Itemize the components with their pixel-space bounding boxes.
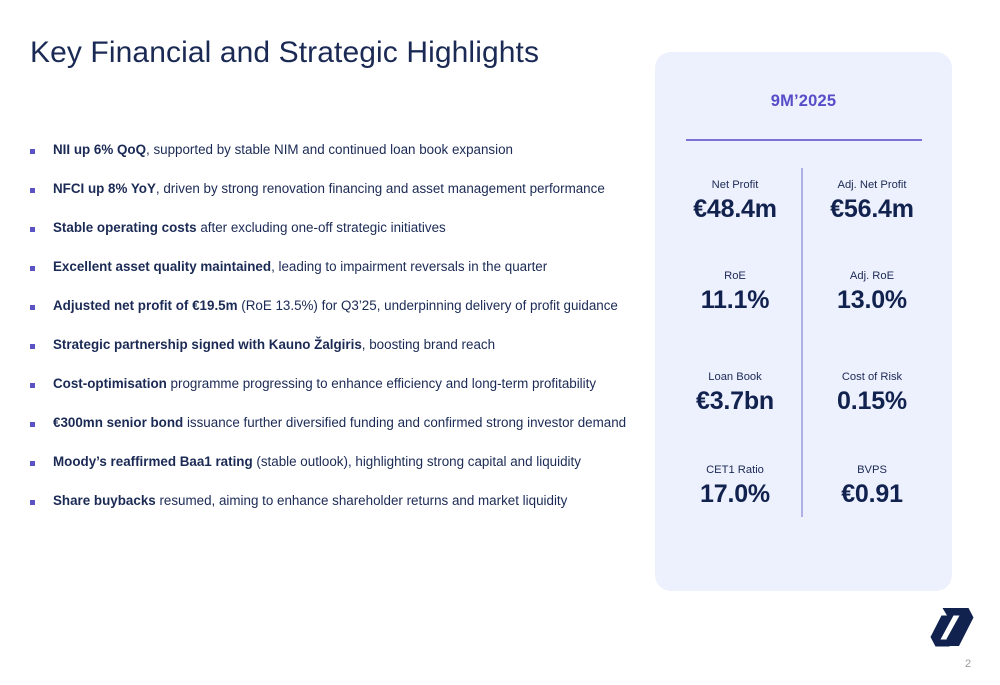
list-item: Share buybacks resumed, aiming to enhanc… [29, 492, 649, 531]
highlights-bullet-list: NII up 6% QoQ, supported by stable NIM a… [29, 141, 649, 531]
list-item-bold: Moody’s reaffirmed Baa1 rating [53, 454, 253, 469]
company-logo-icon [928, 606, 976, 652]
square-bullet-icon [30, 188, 35, 193]
list-item: Adjusted net profit of €19.5m (RoE 13.5%… [29, 297, 649, 336]
square-bullet-icon [30, 422, 35, 427]
list-item-bold: Cost-optimisation [53, 376, 167, 391]
list-item-bold: NFCI up 8% YoY [53, 181, 156, 196]
metric-label: BVPS [802, 463, 942, 477]
list-item-text: Stable operating costs after excluding o… [53, 219, 446, 236]
list-item-rest: , leading to impairment reversals in the… [271, 259, 547, 274]
metric-bvps: BVPS €0.91 [802, 463, 942, 508]
list-item-text: Adjusted net profit of €19.5m (RoE 13.5%… [53, 297, 618, 314]
list-item-rest: (RoE 13.5%) for Q3’25, underpinning deli… [238, 298, 618, 313]
square-bullet-icon [30, 461, 35, 466]
square-bullet-icon [30, 500, 35, 505]
list-item-bold: Strategic partnership signed with Kauno … [53, 337, 362, 352]
key-metrics-panel: 9M’2025 Net Profit €48.4m Adj. Net Profi… [655, 52, 952, 591]
list-item: Stable operating costs after excluding o… [29, 219, 649, 258]
list-item-text: Strategic partnership signed with Kauno … [53, 336, 495, 353]
metrics-panel-title: 9M’2025 [655, 92, 952, 111]
metric-roe: RoE 11.1% [665, 269, 805, 314]
metric-label: RoE [665, 269, 805, 283]
list-item-bold: Adjusted net profit of €19.5m [53, 298, 238, 313]
square-bullet-icon [30, 149, 35, 154]
metric-label: Loan Book [665, 370, 805, 384]
list-item-rest: resumed, aiming to enhance shareholder r… [156, 493, 568, 508]
list-item-rest: , driven by strong renovation financing … [156, 181, 605, 196]
page-number: 2 [950, 658, 986, 670]
metric-value: €56.4m [802, 195, 942, 223]
metric-value: 11.1% [665, 286, 805, 314]
square-bullet-icon [30, 344, 35, 349]
list-item-text: Moody’s reaffirmed Baa1 rating (stable o… [53, 453, 581, 470]
page-title: Key Financial and Strategic Highlights [30, 36, 539, 70]
square-bullet-icon [30, 266, 35, 271]
list-item-rest: (stable outlook), highlighting strong ca… [253, 454, 581, 469]
list-item: Excellent asset quality maintained, lead… [29, 258, 649, 297]
metric-value: 0.15% [802, 387, 942, 415]
list-item-text: NII up 6% QoQ, supported by stable NIM a… [53, 141, 513, 158]
metric-adj-roe: Adj. RoE 13.0% [802, 269, 942, 314]
metric-cost-of-risk: Cost of Risk 0.15% [802, 370, 942, 415]
square-bullet-icon [30, 305, 35, 310]
list-item-text: NFCI up 8% YoY, driven by strong renovat… [53, 180, 605, 197]
square-bullet-icon [30, 227, 35, 232]
metric-value: 13.0% [802, 286, 942, 314]
metric-label: Adj. RoE [802, 269, 942, 283]
list-item-text: Cost-optimisation programme progressing … [53, 375, 596, 392]
square-bullet-icon [30, 383, 35, 388]
list-item-bold: Stable operating costs [53, 220, 197, 235]
list-item-rest: programme progressing to enhance efficie… [167, 376, 596, 391]
list-item: Strategic partnership signed with Kauno … [29, 336, 649, 375]
list-item-rest: after excluding one-off strategic initia… [197, 220, 446, 235]
metric-adj-net-profit: Adj. Net Profit €56.4m [802, 178, 942, 223]
list-item: Moody’s reaffirmed Baa1 rating (stable o… [29, 453, 649, 492]
metric-value: €0.91 [802, 480, 942, 508]
list-item: Cost-optimisation programme progressing … [29, 375, 649, 414]
metric-cet1-ratio: CET1 Ratio 17.0% [665, 463, 805, 508]
metric-value: €48.4m [665, 195, 805, 223]
list-item-rest: , boosting brand reach [362, 337, 495, 352]
metric-net-profit: Net Profit €48.4m [665, 178, 805, 223]
list-item: NFCI up 8% YoY, driven by strong renovat… [29, 180, 649, 219]
list-item-bold: Share buybacks [53, 493, 156, 508]
list-item-text: €300mn senior bond issuance further dive… [53, 414, 626, 431]
metric-label: CET1 Ratio [665, 463, 805, 477]
metric-label: Adj. Net Profit [802, 178, 942, 192]
metric-value: 17.0% [665, 480, 805, 508]
list-item-bold: NII up 6% QoQ [53, 142, 146, 157]
list-item: NII up 6% QoQ, supported by stable NIM a… [29, 141, 649, 180]
list-item: €300mn senior bond issuance further dive… [29, 414, 649, 453]
metric-label: Net Profit [665, 178, 805, 192]
metric-value: €3.7bn [665, 387, 805, 415]
list-item-bold: Excellent asset quality maintained [53, 259, 271, 274]
list-item-rest: , supported by stable NIM and continued … [146, 142, 513, 157]
metric-loan-book: Loan Book €3.7bn [665, 370, 805, 415]
list-item-text: Share buybacks resumed, aiming to enhanc… [53, 492, 567, 509]
list-item-text: Excellent asset quality maintained, lead… [53, 258, 547, 275]
list-item-rest: issuance further diversified funding and… [183, 415, 626, 430]
metrics-header-divider [686, 139, 922, 141]
list-item-bold: €300mn senior bond [53, 415, 183, 430]
metric-label: Cost of Risk [802, 370, 942, 384]
